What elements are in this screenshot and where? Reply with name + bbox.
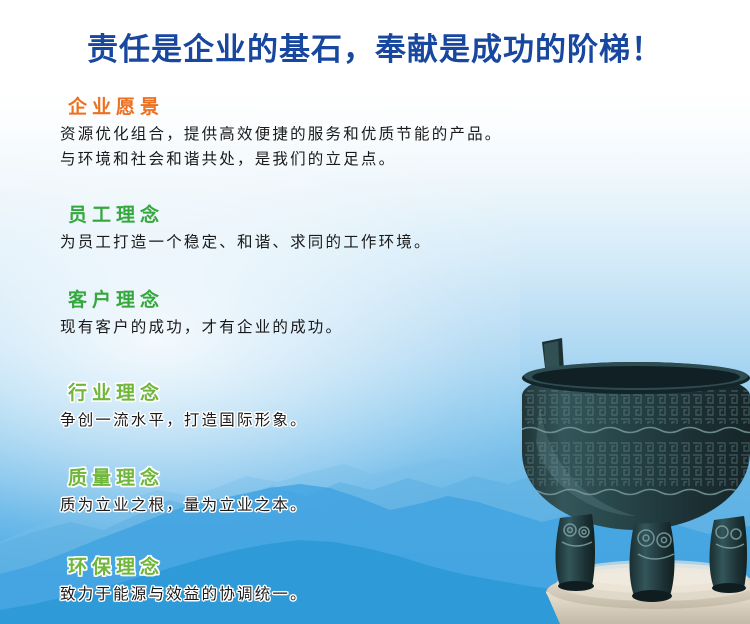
section-body-line: 致力于能源与效益的协调统一。 (60, 582, 620, 607)
section-body-line: 争创一流水平，打造国际形象。 (60, 408, 620, 433)
section-body-line: 为员工打造一个稳定、和谐、求同的工作环境。 (60, 230, 620, 255)
section-heading: 行业理念 (68, 380, 620, 406)
section-quality-philosophy: 质量理念 质为立业之根，量为立业之本。 (0, 465, 620, 518)
section-body-line: 质为立业之根，量为立业之本。 (60, 493, 620, 518)
section-heading: 企业愿景 (68, 94, 620, 120)
section-environmental-philosophy: 环保理念 致力于能源与效益的协调统一。 (0, 554, 620, 607)
poster-canvas: 责任是企业的基石，奉献是成功的阶梯！ 企业愿景 资源优化组合，提供高效便捷的服务… (0, 0, 750, 624)
section-body-line: 资源优化组合，提供高效便捷的服务和优质节能的产品。 (60, 122, 620, 147)
section-heading: 环保理念 (68, 554, 620, 580)
section-body-line: 现有客户的成功，才有企业的成功。 (60, 315, 620, 340)
section-industry-philosophy: 行业理念 争创一流水平，打造国际形象。 (0, 380, 620, 433)
sections-list: 企业愿景 资源优化组合，提供高效便捷的服务和优质节能的产品。 与环境和社会和谐共… (0, 94, 620, 607)
section-heading: 质量理念 (68, 465, 620, 491)
section-corporate-vision: 企业愿景 资源优化组合，提供高效便捷的服务和优质节能的产品。 与环境和社会和谐共… (0, 94, 620, 172)
page-title: 责任是企业的基石，奉献是成功的阶梯！ (0, 24, 750, 69)
section-employee-philosophy: 员工理念 为员工打造一个稳定、和谐、求同的工作环境。 (0, 202, 620, 255)
section-body-line: 与环境和社会和谐共处，是我们的立足点。 (60, 147, 620, 172)
section-heading: 员工理念 (68, 202, 620, 228)
section-customer-philosophy: 客户理念 现有客户的成功，才有企业的成功。 (0, 287, 620, 340)
section-heading: 客户理念 (68, 287, 620, 313)
